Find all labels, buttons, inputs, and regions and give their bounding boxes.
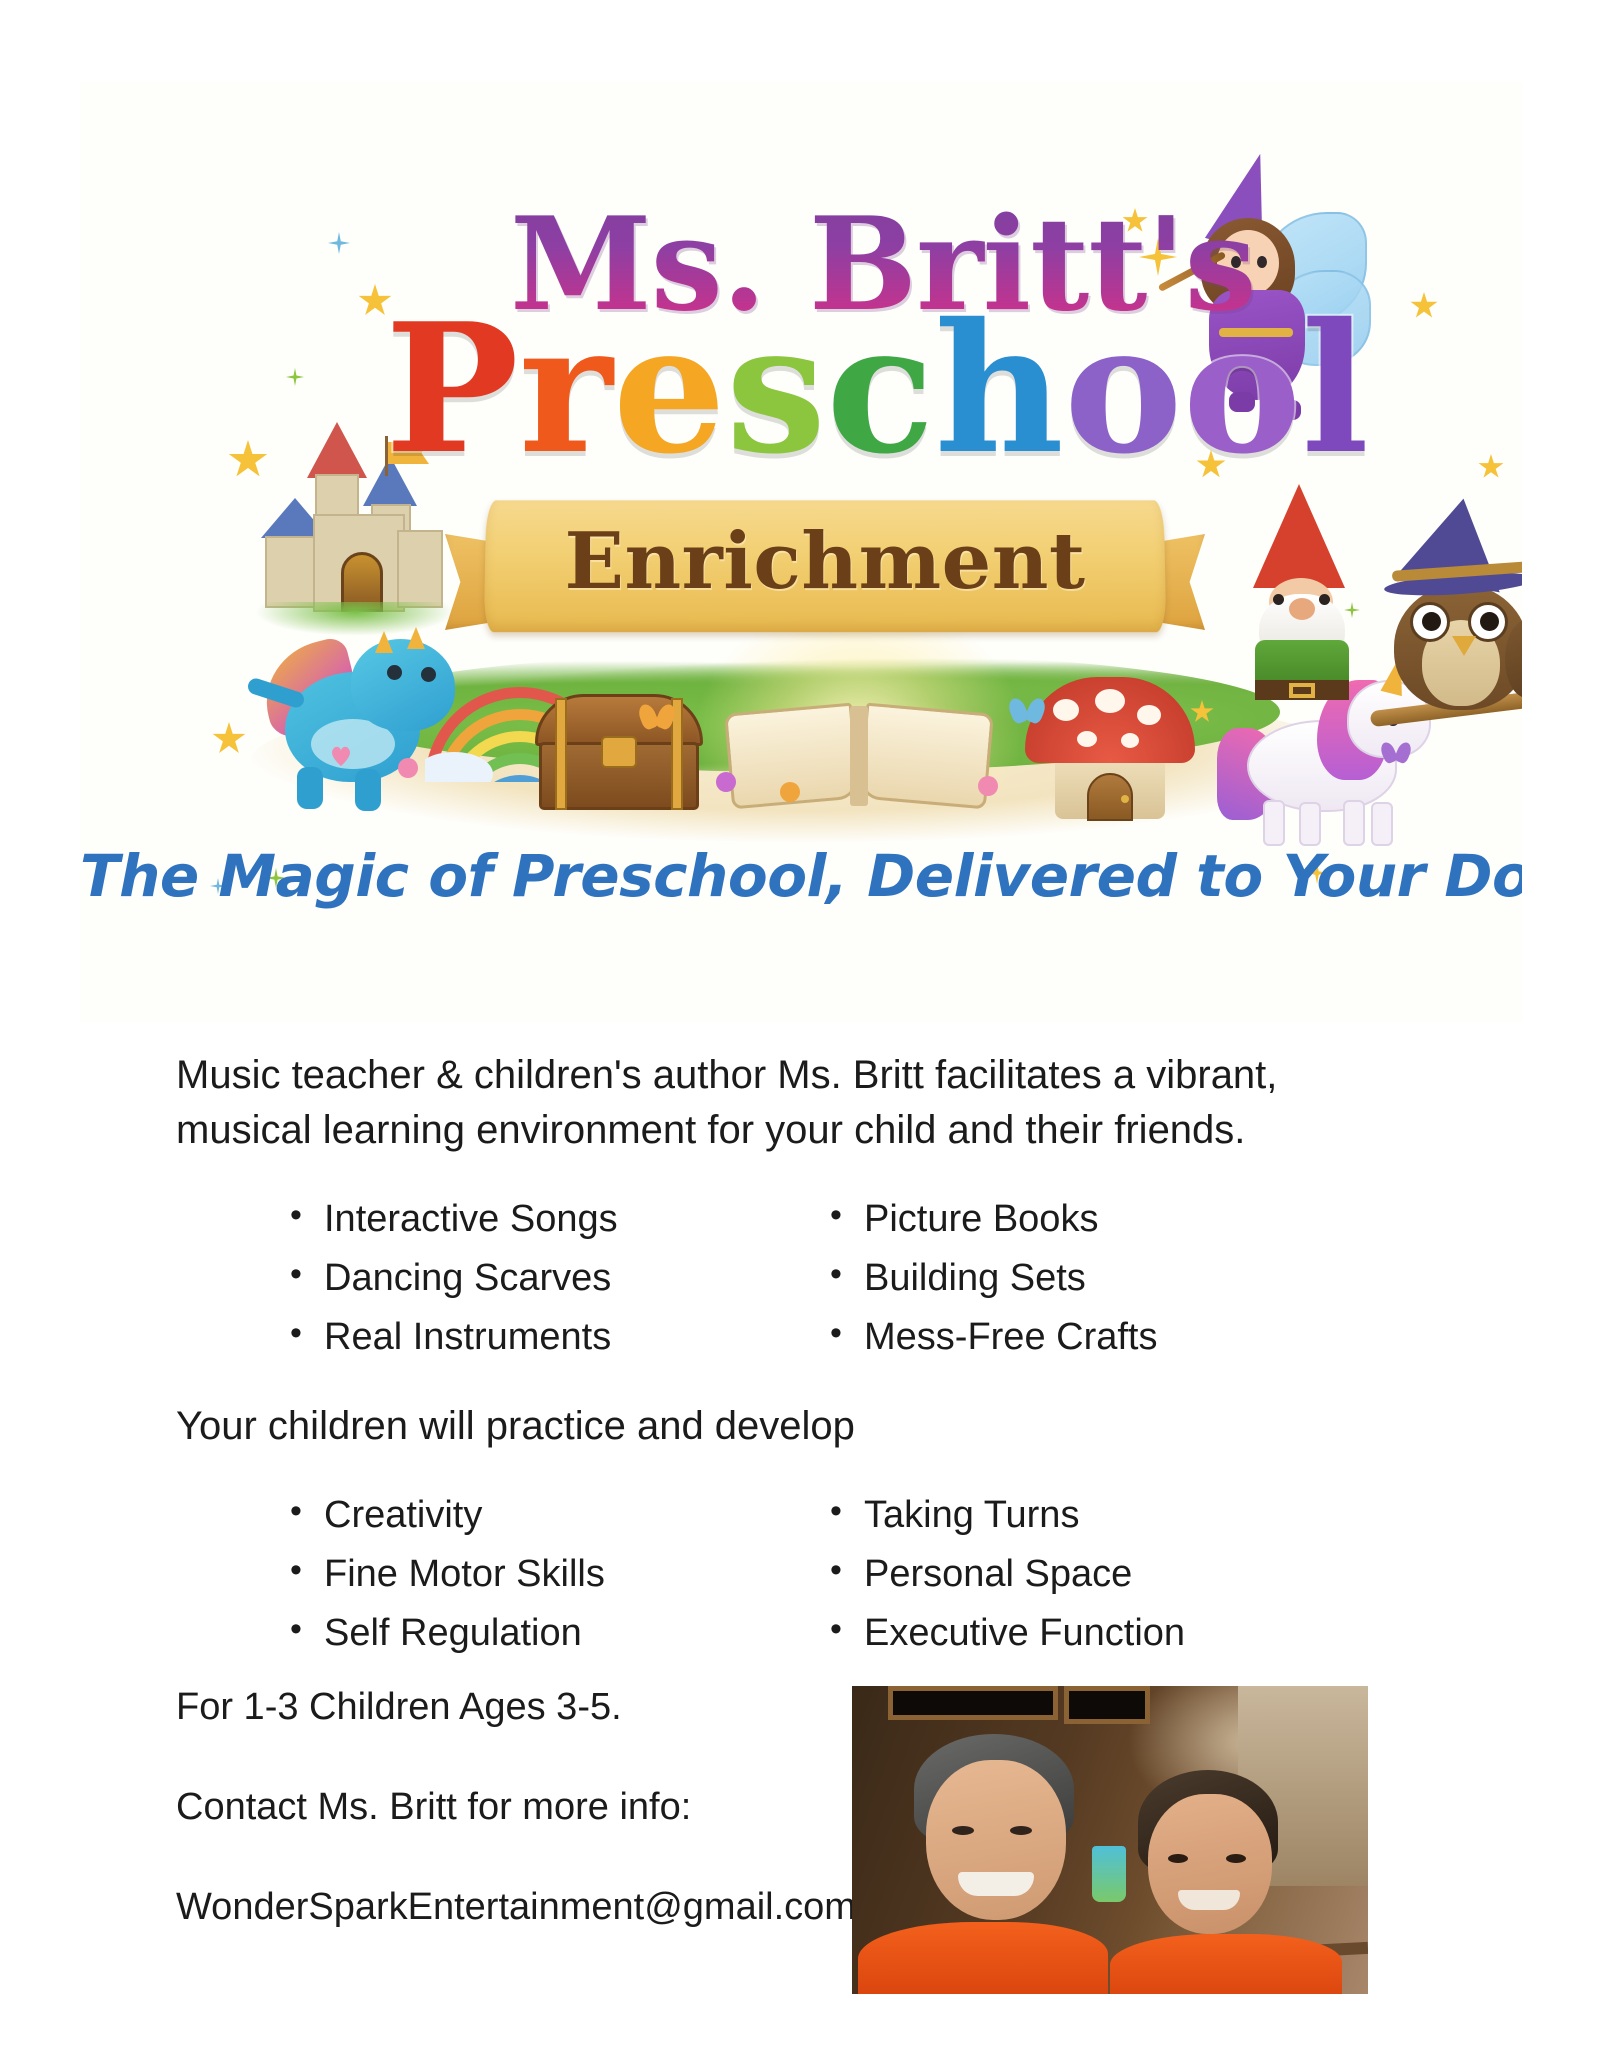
contact-email[interactable]: WonderSparkEntertainment@gmail.com (176, 1888, 936, 1926)
tagline: The Magic of Preschool, Delivered to You… (80, 842, 1522, 910)
photo-child-eye-right (1226, 1854, 1246, 1863)
offerings-right-column: Picture Books Building Sets Mess-Free Cr… (830, 1200, 1157, 1377)
intro-paragraph: Music teacher & children's author Ms. Br… (176, 1048, 1296, 1158)
photo-child-shirt (1110, 1934, 1342, 1994)
photo-picture-frame (888, 1686, 1058, 1720)
skills-left-column: Creativity Fine Motor Skills Self Regula… (290, 1496, 605, 1673)
contact-block: For 1-3 Children Ages 3-5. Contact Ms. B… (176, 1688, 936, 1926)
list-item: Fine Motor Skills (290, 1555, 605, 1593)
banner-label: Enrichment (445, 516, 1205, 607)
ages-note: For 1-3 Children Ages 3-5. (176, 1688, 936, 1726)
title-letter-3: s (726, 300, 826, 478)
list-item: Real Instruments (290, 1318, 618, 1356)
photo-cup (1092, 1846, 1126, 1902)
photo-adult-smile (958, 1872, 1034, 1896)
list-item: Creativity (290, 1496, 605, 1534)
photo-adult-face (926, 1760, 1066, 1920)
list-item: Building Sets (830, 1259, 1157, 1297)
photo-child-face (1148, 1794, 1272, 1934)
list-item: Taking Turns (830, 1496, 1185, 1534)
teacher-and-child-photo (852, 1686, 1368, 1994)
enrichment-banner: Enrichment (445, 482, 1205, 652)
photo-child-smile (1178, 1890, 1240, 1910)
contact-prompt: Contact Ms. Britt for more info: (176, 1788, 936, 1826)
offerings-left-column: Interactive Songs Dancing Scarves Real I… (290, 1200, 618, 1377)
title-preschool: Preschool (385, 300, 1369, 478)
title-letter-1: r (519, 300, 613, 478)
title-letter-0: P (385, 300, 519, 478)
photo-adult-eye-right (1010, 1826, 1032, 1835)
photo-picture-frame-2 (1064, 1686, 1150, 1724)
list-item: Interactive Songs (290, 1200, 618, 1238)
list-item: Executive Function (830, 1614, 1185, 1652)
list-item: Picture Books (830, 1200, 1157, 1238)
list-item: Dancing Scarves (290, 1259, 618, 1297)
title-letter-4: c (826, 300, 934, 478)
list-item: Personal Space (830, 1555, 1185, 1593)
title-letter-5: h (935, 300, 1064, 478)
title-letter-6: o (1064, 300, 1183, 478)
title-letter-2: e (613, 300, 726, 478)
list-item: Self Regulation (290, 1614, 605, 1652)
photo-adult-eye-left (952, 1826, 974, 1835)
list-item: Mess-Free Crafts (830, 1318, 1157, 1356)
intro-line-1: Music teacher & children's author Ms. Br… (176, 1048, 1296, 1103)
skills-heading: Your children will practice and develop (176, 1404, 1176, 1449)
photo-child-eye-left (1168, 1854, 1188, 1863)
title-letter-7: o (1183, 300, 1302, 478)
skills-right-column: Taking Turns Personal Space Executive Fu… (830, 1496, 1185, 1673)
header-artwork-banner: Ms. Britt's Preschool Enrichment The Mag… (80, 82, 1522, 1022)
title-letter-8: l (1301, 300, 1369, 478)
photo-adult-shirt (858, 1922, 1108, 1994)
intro-line-2: musical learning environment for your ch… (176, 1103, 1296, 1158)
